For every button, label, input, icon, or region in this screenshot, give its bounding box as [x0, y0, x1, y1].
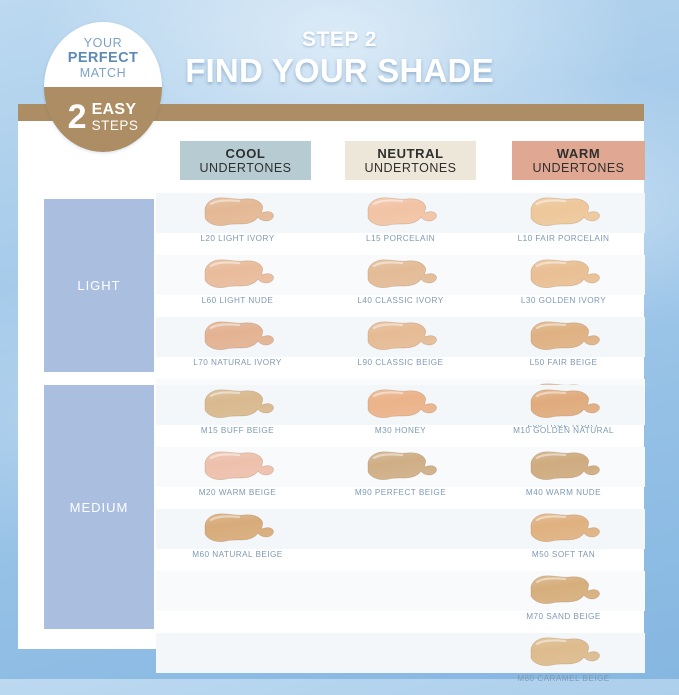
shade-name-label: L50 FAIR BEIGE [482, 358, 645, 367]
shade-swatch-icon [525, 449, 603, 485]
shade-name-label: L90 CLASSIC BEIGE [319, 358, 482, 367]
shade-swatch-icon [525, 511, 603, 547]
shade-name-label: M15 BUFF BEIGE [156, 426, 319, 435]
shade-swatch-icon [362, 319, 440, 355]
shade-row: M70 SAND BEIGE [156, 571, 645, 633]
shade-name-label: L70 NATURAL IVORY [156, 358, 319, 367]
shade-swatch-icon [362, 387, 440, 423]
badge-line-match: MATCH [80, 66, 127, 81]
shade-name-label: M90 PERFECT BEIGE [319, 488, 482, 497]
column-header-cool-title: COOL [226, 146, 266, 161]
shade-cell[interactable]: M30 HONEY [319, 385, 482, 447]
shade-swatch-icon [525, 573, 603, 609]
shade-swatch-icon [525, 195, 603, 231]
column-header-cool: COOL UNDERTONES [180, 141, 311, 180]
badge-line-your: YOUR [84, 36, 123, 50]
column-header-cool-sub: UNDERTONES [199, 161, 291, 176]
shade-row: L70 NATURAL IVORYL90 CLASSIC BEIGEL50 FA… [156, 317, 645, 379]
shade-name-label: M10 GOLDEN NATURAL [482, 426, 645, 435]
shade-name-label: M50 SOFT TAN [482, 550, 645, 559]
shade-swatch-icon [525, 635, 603, 671]
shade-cell[interactable]: M70 SAND BEIGE [482, 571, 645, 633]
shade-swatch-icon [199, 257, 277, 293]
shade-cell[interactable]: M40 WARM NUDE [482, 447, 645, 509]
shade-cell[interactable]: L40 CLASSIC IVORY [319, 255, 482, 317]
shade-cell-empty [156, 571, 319, 633]
shade-cell[interactable]: M20 WARM BEIGE [156, 447, 319, 509]
shade-name-label: M60 NATURAL BEIGE [156, 550, 319, 559]
badge-top-half: YOUR PERFECT MATCH [44, 22, 162, 87]
shade-cell[interactable]: L20 LIGHT IVORY [156, 193, 319, 255]
tier-label-light: LIGHT [44, 199, 154, 372]
shade-name-label: M40 WARM NUDE [482, 488, 645, 497]
shade-cell[interactable]: M80 CARAMEL BEIGE [482, 633, 645, 695]
shade-name-label: L10 FAIR PORCELAIN [482, 234, 645, 243]
shade-cell-empty [319, 571, 482, 633]
shade-swatch-icon [199, 195, 277, 231]
badge-label-easy: EASY [92, 101, 137, 118]
shade-cell[interactable]: M90 PERFECT BEIGE [319, 447, 482, 509]
badge-easy-steps: EASY STEPS [92, 101, 139, 133]
badge-label-steps: STEPS [92, 118, 139, 133]
shade-name-label: M70 SAND BEIGE [482, 612, 645, 621]
badge-line-perfect: PERFECT [68, 50, 138, 66]
shade-swatch-icon [362, 257, 440, 293]
shade-name-label: L20 LIGHT IVORY [156, 234, 319, 243]
shade-name-label: L40 CLASSIC IVORY [319, 296, 482, 305]
shade-swatch-icon [199, 319, 277, 355]
column-header-warm: WARM UNDERTONES [512, 141, 645, 180]
shade-cell[interactable]: L70 NATURAL IVORY [156, 317, 319, 379]
shade-swatch-icon [199, 449, 277, 485]
shade-name-label: M30 HONEY [319, 426, 482, 435]
shade-row: M80 CARAMEL BEIGE [156, 633, 645, 695]
badge-bottom-half: 2 EASY STEPS [44, 87, 162, 152]
shade-name-label: L15 PORCELAIN [319, 234, 482, 243]
shade-swatch-icon [525, 257, 603, 293]
shade-row: M60 NATURAL BEIGEM50 SOFT TAN [156, 509, 645, 571]
column-header-warm-title: WARM [557, 146, 601, 161]
shade-cell[interactable]: L15 PORCELAIN [319, 193, 482, 255]
shade-name-label: L60 LIGHT NUDE [156, 296, 319, 305]
shade-cell[interactable]: M10 GOLDEN NATURAL [482, 385, 645, 447]
shade-cell[interactable]: L60 LIGHT NUDE [156, 255, 319, 317]
shade-swatch-icon [362, 449, 440, 485]
shade-cell-empty [319, 633, 482, 695]
shade-swatch-icon [199, 387, 277, 423]
shade-name-label: L30 GOLDEN IVORY [482, 296, 645, 305]
shade-swatch-icon [362, 195, 440, 231]
tier-label-medium: MEDIUM [44, 385, 154, 629]
shade-swatch-icon [525, 387, 603, 423]
shade-cell[interactable]: L90 CLASSIC BEIGE [319, 317, 482, 379]
column-header-warm-sub: UNDERTONES [532, 161, 624, 176]
shade-row: L60 LIGHT NUDEL40 CLASSIC IVORYL30 GOLDE… [156, 255, 645, 317]
perfect-match-badge: YOUR PERFECT MATCH 2 EASY STEPS [44, 22, 162, 152]
shade-swatch-icon [199, 511, 277, 547]
column-header-neutral-title: NEUTRAL [377, 146, 443, 161]
shade-grid-medium: M15 BUFF BEIGEM30 HONEYM10 GOLDEN NATURA… [156, 385, 645, 695]
shade-cell[interactable]: L30 GOLDEN IVORY [482, 255, 645, 317]
shade-cell[interactable]: L10 FAIR PORCELAIN [482, 193, 645, 255]
shade-swatch-icon [525, 319, 603, 355]
shade-cell[interactable]: M60 NATURAL BEIGE [156, 509, 319, 571]
shade-cell[interactable]: L50 FAIR BEIGE [482, 317, 645, 379]
shade-name-label: M20 WARM BEIGE [156, 488, 319, 497]
column-header-neutral-sub: UNDERTONES [364, 161, 456, 176]
column-header-neutral: NEUTRAL UNDERTONES [345, 141, 476, 180]
shade-row: L20 LIGHT IVORYL15 PORCELAINL10 FAIR POR… [156, 193, 645, 255]
shade-cell[interactable]: M50 SOFT TAN [482, 509, 645, 571]
shade-row: M15 BUFF BEIGEM30 HONEYM10 GOLDEN NATURA… [156, 385, 645, 447]
shade-cell[interactable]: M15 BUFF BEIGE [156, 385, 319, 447]
shade-cell-empty [156, 633, 319, 695]
shade-cell-empty [319, 509, 482, 571]
badge-step-number: 2 [68, 100, 87, 134]
shade-row: M20 WARM BEIGEM90 PERFECT BEIGEM40 WARM … [156, 447, 645, 509]
